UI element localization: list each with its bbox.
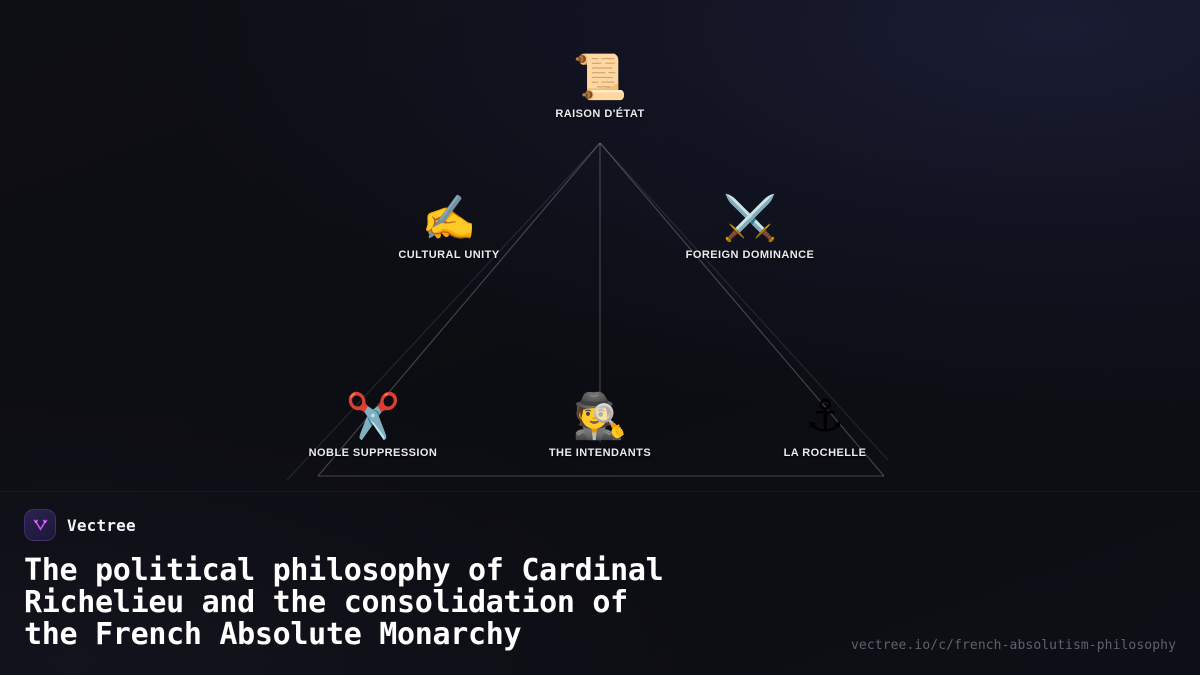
scissors-icon: ✂️ [258,391,488,443]
concept-graph: 📜 RAISON D'ÉTAT ✍️ CULTURAL UNITY ⚔️ FOR… [0,0,1200,491]
scroll-icon: 📜 [485,52,715,104]
page-title: The political philosophy of Cardinal Ric… [24,555,854,651]
writing-hand-icon: ✍️ [334,193,564,245]
node-label: NOBLE SUPPRESSION [258,447,488,459]
detective-icon: 🕵️ [485,391,715,443]
brand[interactable]: Vectree [24,508,1176,542]
node-label: LA ROCHELLE [710,447,940,459]
share-card: 📜 RAISON D'ÉTAT ✍️ CULTURAL UNITY ⚔️ FOR… [0,0,1200,675]
graph-node-la-rochelle[interactable]: ⚓ LA ROCHELLE [710,391,940,459]
brand-name: Vectree [67,516,136,535]
node-label: CULTURAL UNITY [334,249,564,261]
card-footer: Vectree The political philosophy of Card… [0,492,1200,675]
graph-node-cultural-unity[interactable]: ✍️ CULTURAL UNITY [334,193,564,261]
graph-node-foreign-dominance[interactable]: ⚔️ FOREIGN DOMINANCE [635,193,865,261]
share-url: vectree.io/c/french-absolutism-philosoph… [851,638,1176,653]
node-label: FOREIGN DOMINANCE [635,249,865,261]
vectree-logo-icon [24,509,56,541]
anchor-icon: ⚓ [710,391,940,443]
graph-node-noble-suppression[interactable]: ✂️ NOBLE SUPPRESSION [258,391,488,459]
node-label: RAISON D'ÉTAT [485,108,715,120]
crossed-swords-icon: ⚔️ [635,193,865,245]
graph-node-the-intendants[interactable]: 🕵️ THE INTENDANTS [485,391,715,459]
graph-node-raison-detat[interactable]: 📜 RAISON D'ÉTAT [485,52,715,120]
node-label: THE INTENDANTS [485,447,715,459]
